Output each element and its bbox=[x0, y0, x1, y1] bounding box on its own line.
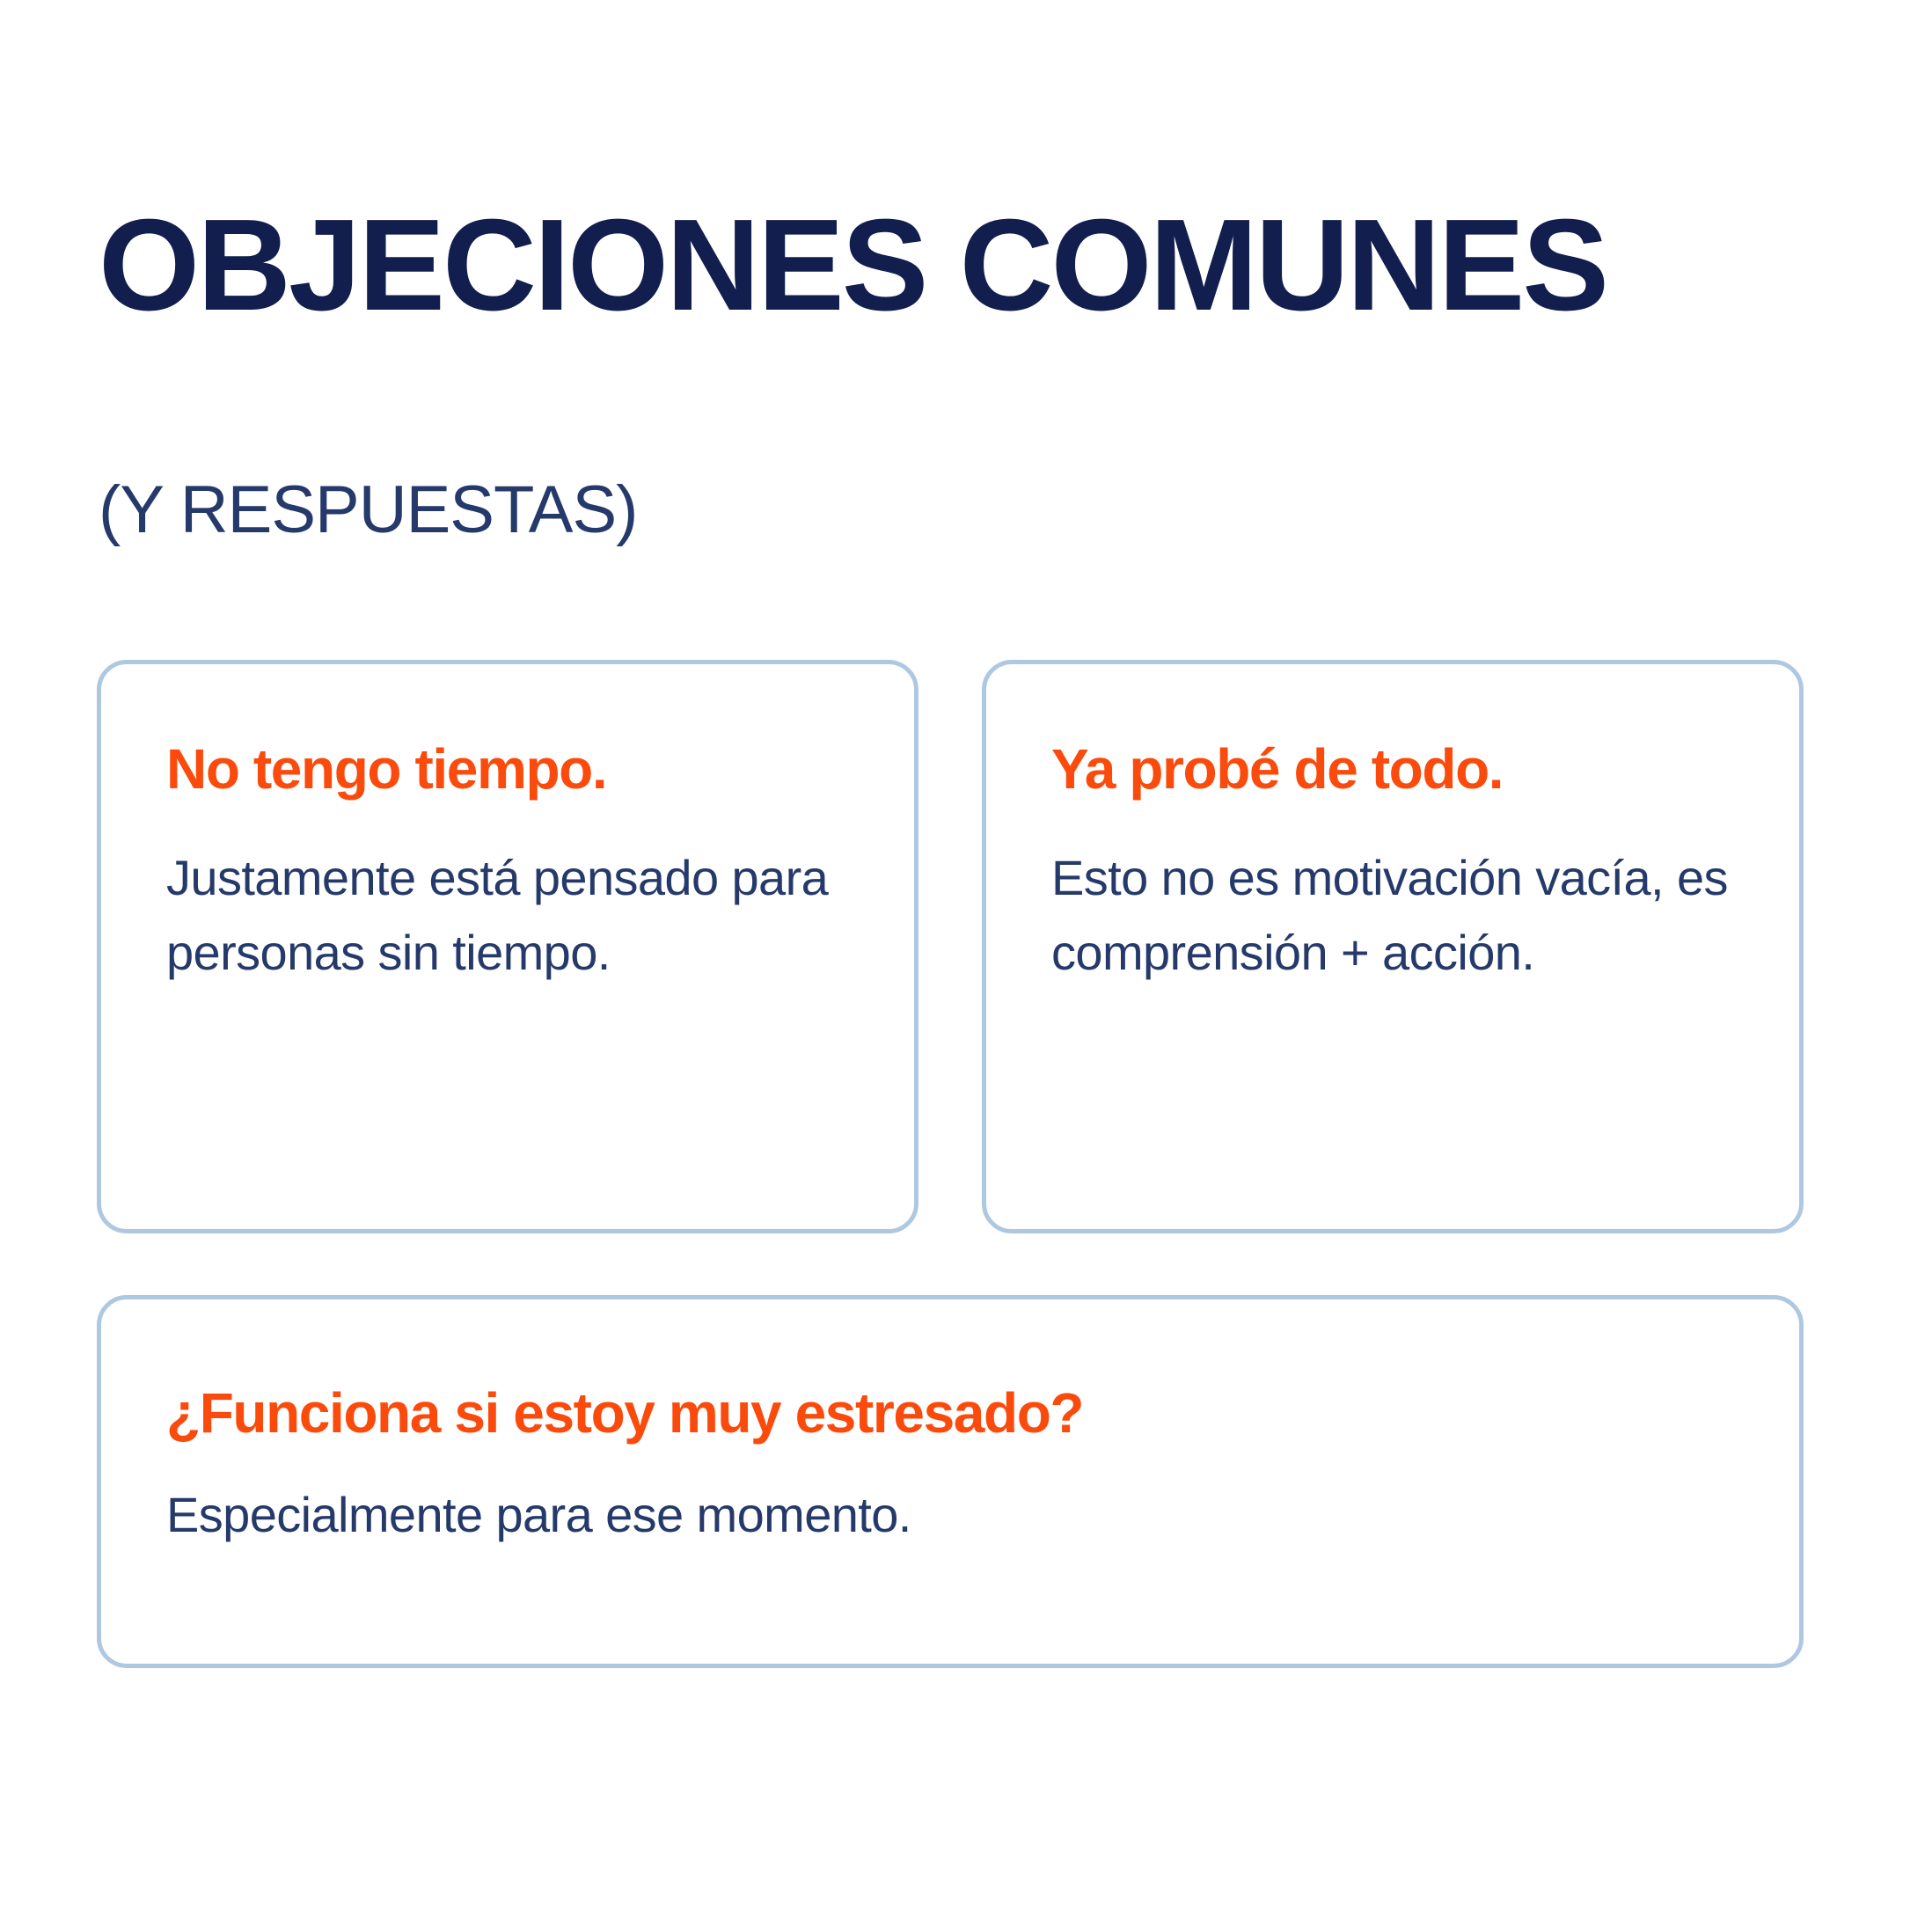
objection-card-2: Ya probé de todo. Esto no es motivación … bbox=[982, 660, 1804, 1233]
objection-cards-row: No tengo tiempo. Justamente está pensado… bbox=[97, 660, 1804, 1233]
objection-card-1: No tengo tiempo. Justamente está pensado… bbox=[97, 660, 918, 1233]
slide-canvas: OBJECIONES COMUNES (Y RESPUESTAS) No ten… bbox=[0, 0, 1932, 1932]
objection-card-3-heading: ¿Funciona si estoy muy estresado? bbox=[166, 1384, 1746, 1444]
objection-card-2-body: Esto no es motivación vacía, es comprens… bbox=[1051, 840, 1746, 990]
page-subtitle: (Y RESPUESTAS) bbox=[99, 477, 637, 544]
page-title: OBJECIONES COMUNES bbox=[99, 201, 1841, 331]
objection-card-1-heading: No tengo tiempo. bbox=[166, 740, 861, 800]
objection-card-2-heading: Ya probé de todo. bbox=[1051, 740, 1746, 800]
header: OBJECIONES COMUNES bbox=[99, 201, 1841, 331]
objection-card-3-body: Especialmente para ese momento. bbox=[166, 1477, 1746, 1552]
objection-card-3: ¿Funciona si estoy muy estresado? Especi… bbox=[97, 1295, 1804, 1668]
objection-card-1-body: Justamente está pensado para personas si… bbox=[166, 840, 861, 990]
